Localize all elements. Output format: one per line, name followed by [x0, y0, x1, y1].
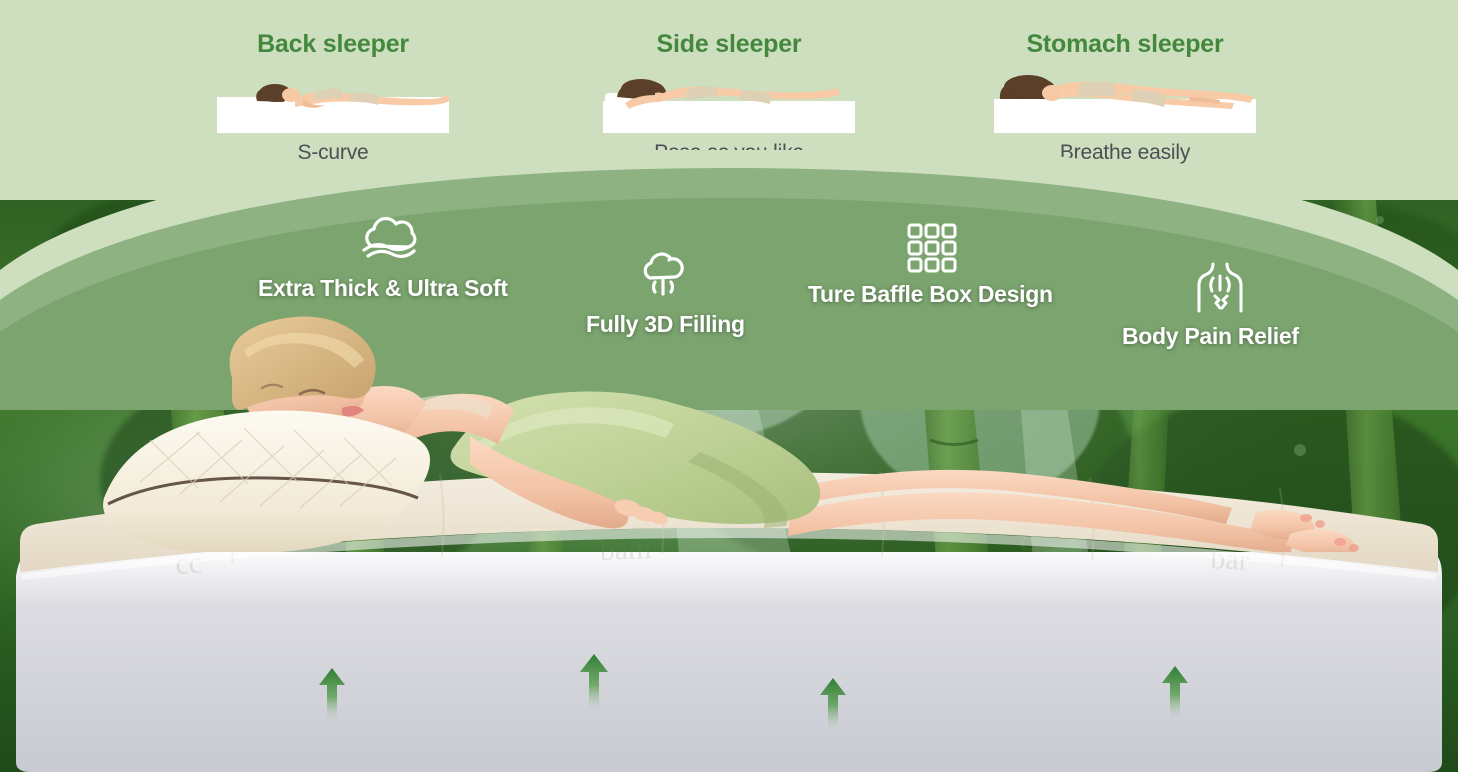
- feature-label: Ture Baffle Box Design: [808, 281, 1053, 308]
- torso-spine-icon: [1194, 258, 1299, 321]
- breathability-upward-arrow: [319, 668, 345, 720]
- product-feature-graphic: Back sleeper S-curve: [0, 0, 1458, 772]
- feature-baffle-box-design: Ture Baffle Box Design: [808, 222, 1053, 308]
- breathability-upward-arrow: [820, 678, 846, 729]
- tree-icon: [636, 248, 745, 309]
- feature-extra-thick-ultra-soft: Extra Thick & Ultra Soft: [258, 216, 508, 302]
- breathability-arrows: [0, 652, 1458, 772]
- cloud-icon: [358, 216, 508, 273]
- feature-label: Body Pain Relief: [1122, 323, 1299, 350]
- feature-label: Fully 3D Filling: [586, 311, 745, 338]
- breathability-upward-arrow: [580, 654, 608, 710]
- feature-fully-3d-filling: Fully 3D Filling: [586, 248, 745, 338]
- feature-body-pain-relief: Body Pain Relief: [1122, 258, 1299, 350]
- breathability-upward-arrow: [1162, 666, 1188, 718]
- grid-3x3-icon: [906, 222, 1053, 279]
- feature-label: Extra Thick & Ultra Soft: [258, 275, 508, 302]
